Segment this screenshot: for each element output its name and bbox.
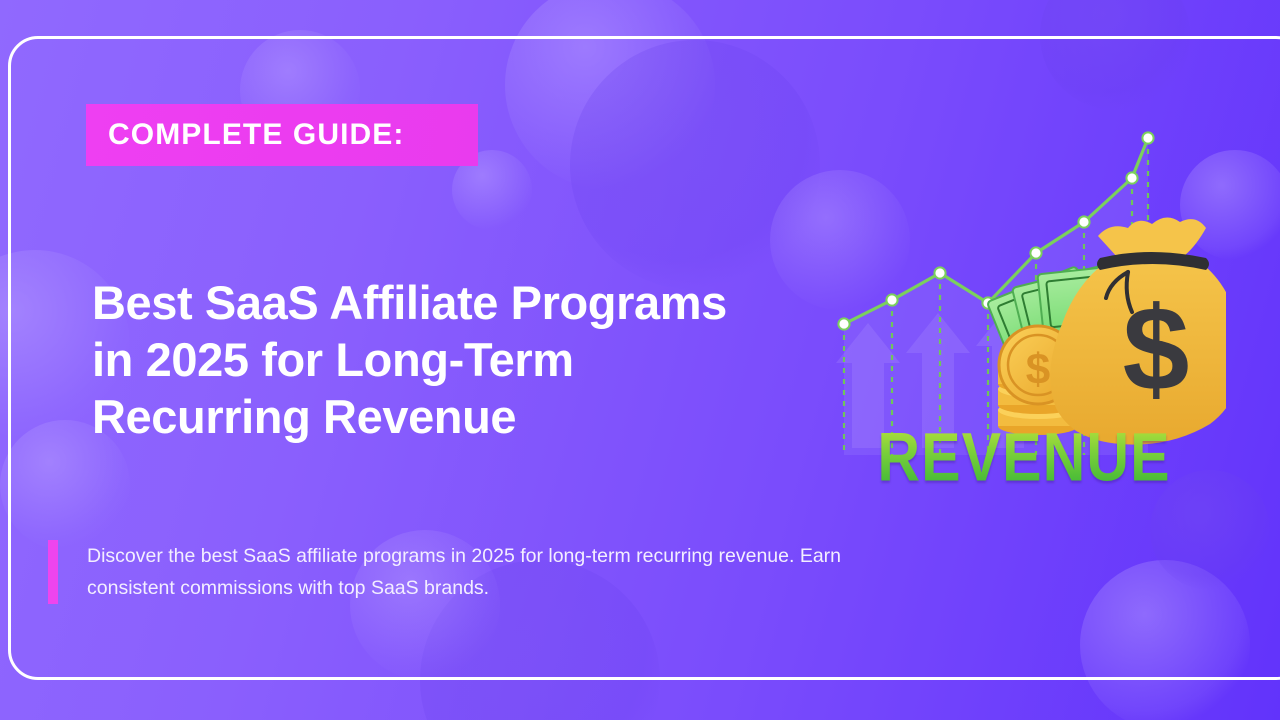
page-title: Best SaaS Affiliate Programs in 2025 for… bbox=[92, 274, 752, 445]
content-layer: COMPLETE GUIDE: Best SaaS Affiliate Prog… bbox=[0, 0, 1280, 720]
badge-label: COMPLETE GUIDE: bbox=[86, 118, 405, 152]
banner-canvas: COMPLETE GUIDE: Best SaaS Affiliate Prog… bbox=[0, 0, 1280, 720]
revenue-wordmark: REVENUE bbox=[834, 424, 1213, 492]
description-text: Discover the best SaaS affiliate program… bbox=[87, 540, 887, 604]
complete-guide-badge: COMPLETE GUIDE: bbox=[86, 104, 478, 166]
svg-text:$: $ bbox=[1123, 282, 1190, 416]
description-block: Discover the best SaaS affiliate program… bbox=[48, 540, 888, 604]
accent-bar bbox=[48, 540, 58, 604]
svg-text:$: $ bbox=[1026, 345, 1050, 394]
